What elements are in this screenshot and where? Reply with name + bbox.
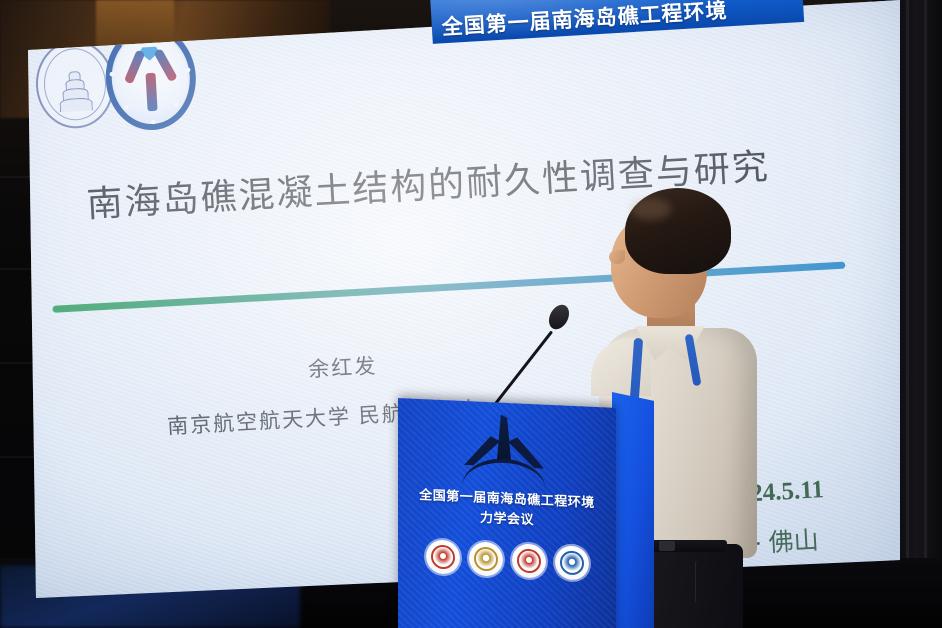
podium-emblem-icon xyxy=(456,413,552,489)
sponsor-logo-3 xyxy=(512,543,546,579)
speaker-belt-buckle xyxy=(659,541,675,551)
speaker-nose xyxy=(609,250,625,264)
sponsor-logo-1 xyxy=(426,539,460,575)
gooseneck-microphone xyxy=(492,300,568,408)
sponsor-logo-2 xyxy=(469,541,503,577)
sponsor-logo-4 xyxy=(555,545,589,581)
microphone-stem xyxy=(492,331,553,408)
podium-side-panel xyxy=(612,392,654,628)
speaker-hair xyxy=(625,188,731,274)
speaker-pocket xyxy=(695,560,730,604)
presentation-photo: 南海岛礁混凝土结构的耐久性调查与研究 余红发 南京航空航天大学 民航学院 土 2… xyxy=(0,0,942,628)
podium: 全国第一届南海岛礁工程环境 力学会议 xyxy=(398,398,616,628)
